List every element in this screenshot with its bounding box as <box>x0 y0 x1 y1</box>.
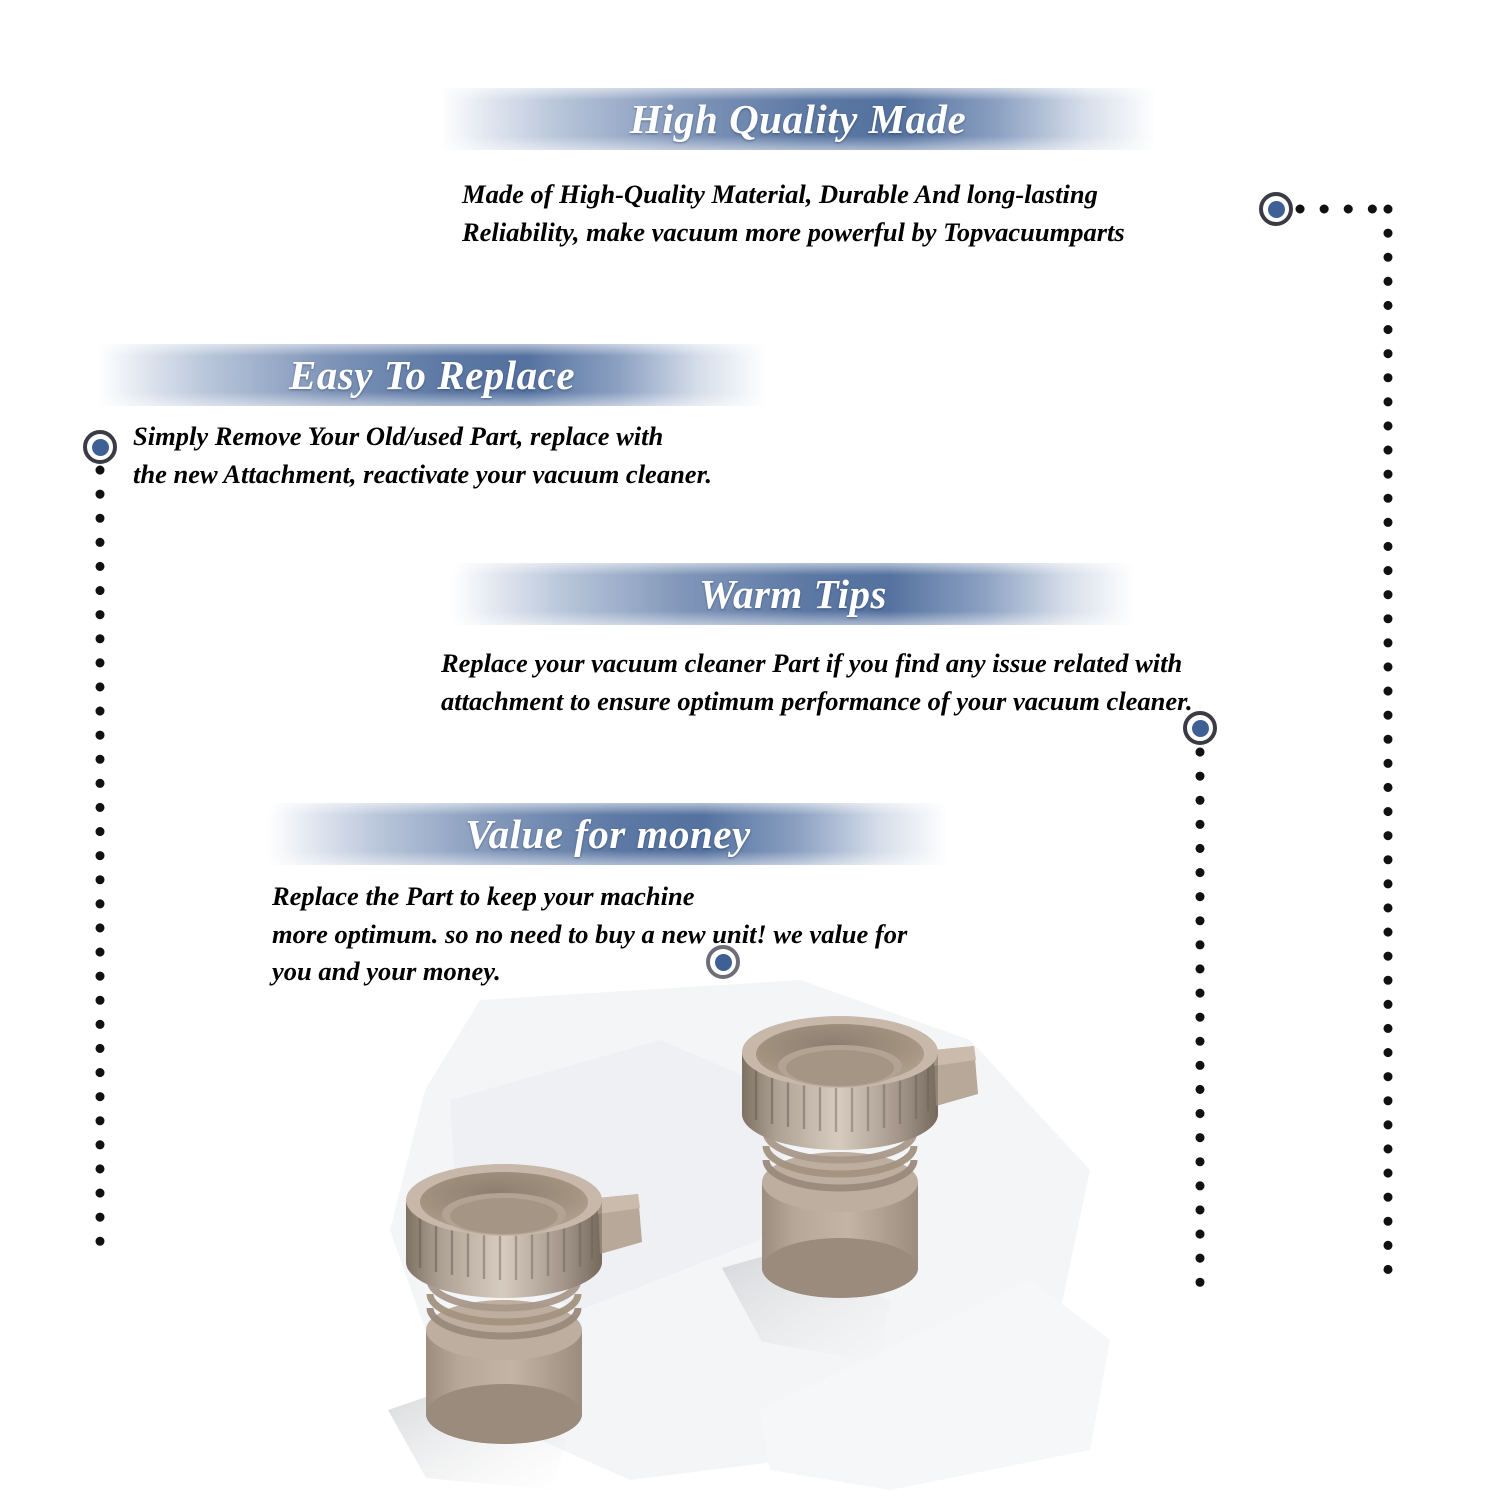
product-image-vacuum-adapter <box>330 1010 1110 1500</box>
section-title: High Quality Made <box>630 95 967 143</box>
section-banner-high-quality-made: High Quality Made <box>440 88 1156 150</box>
node-value-for-money[interactable] <box>706 945 740 979</box>
node-easy-to-replace[interactable] <box>83 430 117 464</box>
section-body-warm-tips: Replace your vacuum cleaner Part if you … <box>441 645 1301 720</box>
adapter-unit-front <box>388 1164 642 1490</box>
section-banner-warm-tips: Warm Tips <box>452 563 1134 625</box>
section-title: Warm Tips <box>699 570 887 618</box>
section-banner-value-for-money: Value for money <box>268 803 948 865</box>
section-title: Easy To Replace <box>289 351 575 399</box>
section-body-high-quality-made: Made of High-Quality Material, Durable A… <box>462 176 1222 251</box>
section-title: Value for money <box>465 810 750 858</box>
infographic-canvas: High Quality Made Made of High-Quality M… <box>0 0 1500 1500</box>
section-body-value-for-money: Replace the Part to keep your machine mo… <box>272 878 1032 991</box>
adapter-unit-back <box>722 1016 978 1362</box>
node-high-quality-made[interactable] <box>1259 192 1293 226</box>
section-banner-easy-to-replace: Easy To Replace <box>98 344 766 406</box>
node-warm-tips[interactable] <box>1183 711 1217 745</box>
section-body-easy-to-replace: Simply Remove Your Old/used Part, replac… <box>133 418 913 493</box>
